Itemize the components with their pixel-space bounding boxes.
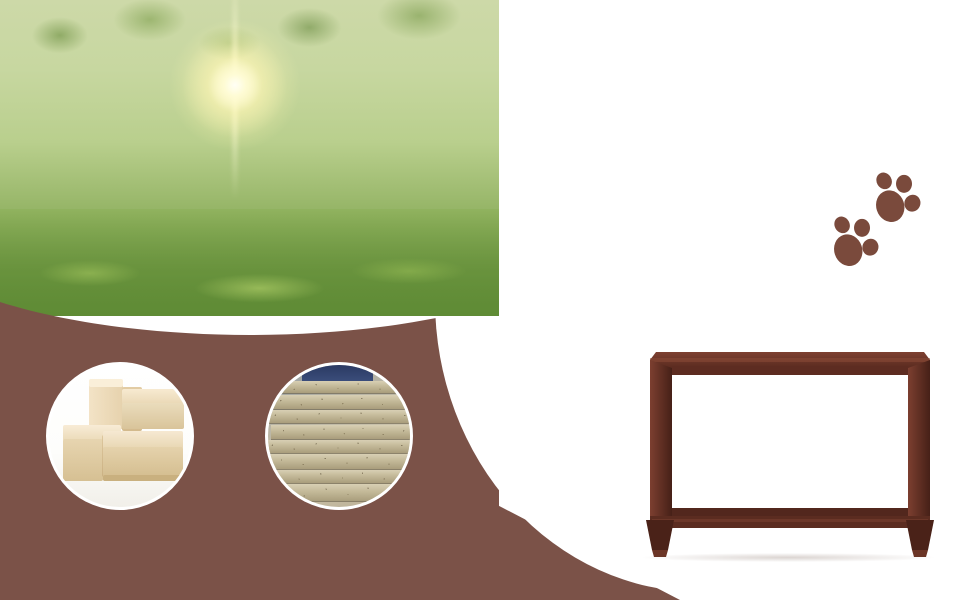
forest-undergrowth	[0, 209, 499, 316]
comparison-caption-ours	[20, 522, 230, 546]
comparison-caption-others	[243, 522, 453, 546]
product-shadow	[642, 553, 934, 562]
mdf-particle-board-photo	[265, 362, 413, 510]
wooden-pet-gate-photo	[628, 338, 948, 568]
paw-print-icon	[820, 212, 888, 272]
pine-wood-blocks-photo	[46, 362, 194, 510]
product-feature-banner	[0, 0, 970, 600]
sun-ray	[232, 0, 237, 200]
feature-panel	[500, 0, 970, 600]
material-comparison	[0, 340, 500, 590]
hero-forest-image	[0, 0, 499, 316]
forest-backdrop	[0, 0, 499, 316]
pet-gate-illustration	[628, 338, 948, 568]
paw-print-decoration	[820, 168, 940, 278]
